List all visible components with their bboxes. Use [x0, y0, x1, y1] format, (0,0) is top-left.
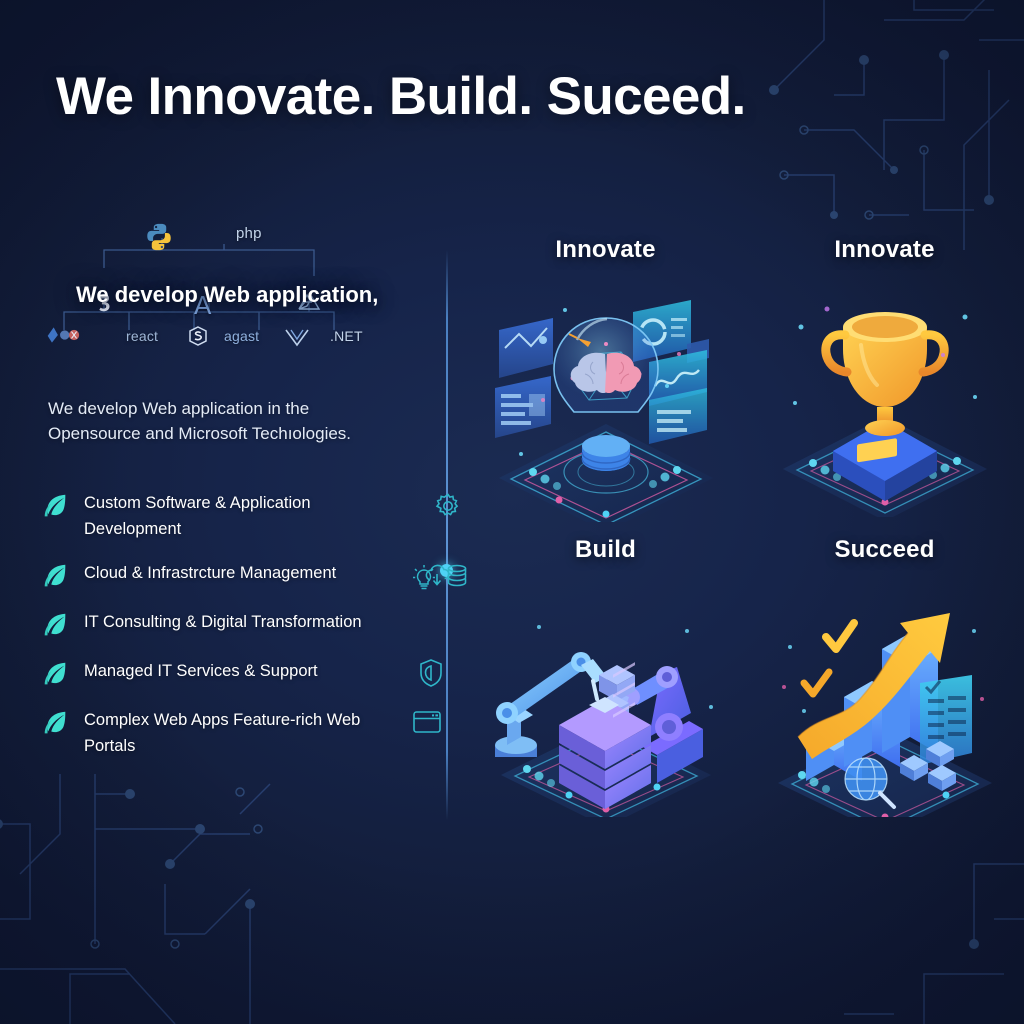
lightbulb-icon — [410, 563, 438, 593]
list-item-label: IT Consulting & Digital Transformation — [84, 609, 362, 635]
leaf-icon — [40, 491, 70, 521]
panel-art — [466, 268, 745, 536]
panel-build-robots[interactable]: Build — [466, 536, 745, 836]
leaf-icon — [40, 561, 70, 591]
right-panel-grid: Innovate — [466, 236, 1024, 836]
list-item[interactable]: Cloud & Infrastrcture Management — [40, 560, 440, 591]
paragraph-line-2: Opensource and Microsoft Techıologies. — [48, 421, 440, 446]
robotic-arms-illustration — [481, 587, 731, 817]
panel-title: Innovate — [555, 236, 655, 264]
laravel-logo-icon — [46, 322, 80, 348]
tech-label-agast: agast — [224, 328, 259, 344]
leaf-icon — [40, 659, 70, 689]
panel-art — [745, 268, 1024, 536]
list-item-label: Managed IT Services & Support — [84, 658, 318, 684]
paragraph-line-1: We develop Web application in the — [48, 396, 440, 421]
services-list: Custom Software & Application Developmen… — [40, 490, 440, 759]
panel-art — [466, 568, 745, 836]
tech-label-php: php — [236, 225, 262, 242]
list-item[interactable]: Complex Web Apps Feature-rich Web Portal… — [40, 707, 440, 759]
left-tagline: We develop Web application, — [76, 282, 378, 308]
list-item-label: Cloud & Infrastrcture Management — [84, 560, 336, 586]
list-item[interactable]: IT Consulting & Digital Transformation — [40, 609, 440, 640]
panel-innovate-trophy[interactable]: Innovate — [745, 236, 1024, 536]
panel-title: Build — [575, 536, 636, 564]
leaf-icon — [40, 708, 70, 738]
list-item-label: Custom Software & Application Developmen… — [84, 490, 394, 542]
browser-window-icon — [412, 709, 442, 735]
left-paragraph: We develop Web application in the Openso… — [48, 396, 440, 446]
growth-chart-illustration — [760, 587, 1010, 817]
vertical-divider — [446, 250, 448, 820]
leaf-icon — [40, 610, 70, 640]
page-title: We Innovate. Build. Suceed. — [56, 66, 746, 127]
tech-label-dotnet: .NET — [330, 328, 363, 344]
tech-label-react: react — [126, 328, 158, 344]
panel-title: Succeed — [834, 536, 934, 564]
trophy-illustration — [765, 287, 1005, 517]
list-item[interactable]: Managed IT Services & Support — [40, 658, 440, 689]
panel-succeed-growth[interactable]: Succeed — [745, 536, 1024, 836]
panel-title: Innovate — [834, 236, 934, 264]
panel-innovate-lightbulb[interactable]: Innovate — [466, 236, 745, 536]
node-logo-icon — [186, 324, 210, 348]
gear-icon — [434, 492, 462, 520]
panel-art — [745, 568, 1024, 836]
vue-logo-icon — [284, 326, 310, 348]
lightbulb-brain-illustration — [481, 282, 731, 522]
list-item-label: Complex Web Apps Feature-rich Web Portal… — [84, 707, 394, 759]
shield-icon — [418, 658, 444, 688]
list-item[interactable]: Custom Software & Application Developmen… — [40, 490, 440, 542]
left-content-column: php A react agast .NET We develop Web ap — [0, 230, 440, 777]
tech-stack-diagram: php A react agast .NET We develop Web ap — [34, 230, 440, 390]
python-logo-icon — [144, 222, 174, 252]
